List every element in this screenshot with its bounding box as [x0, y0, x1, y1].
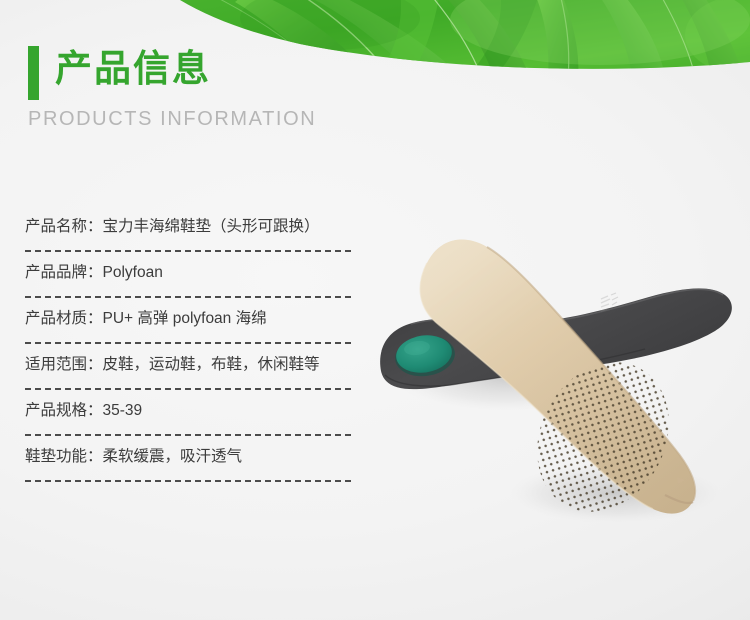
spec-divider — [25, 388, 351, 390]
spec-divider — [25, 434, 351, 436]
spec-divider — [25, 250, 351, 252]
spec-divider — [25, 480, 351, 482]
spec-row-function: 鞋垫功能：柔软缓震，吸汗透气 — [25, 442, 355, 488]
spec-text: 鞋垫功能：柔软缓震，吸汗透气 — [25, 446, 242, 468]
page-subtitle: PRODUCTS INFORMATION — [28, 108, 316, 131]
spec-text: 产品规格：35-39 — [25, 400, 142, 422]
spec-text: 适用范围：皮鞋，运动鞋，布鞋，休闲鞋等 — [25, 354, 320, 376]
insole-pair-photo — [365, 225, 750, 535]
spec-row-material: 产品材质：PU+ 高弹 polyfoan 海绵 — [25, 304, 355, 350]
product-image — [365, 225, 750, 535]
spec-text: 产品材质：PU+ 高弹 polyfoan 海绵 — [25, 308, 267, 330]
product-spec-list: 产品名称：宝力丰海绵鞋垫（头形可跟换） 产品品牌：Polyfoan 产品材质：P… — [25, 212, 355, 488]
spec-divider — [25, 342, 351, 344]
spec-row-product-name: 产品名称：宝力丰海绵鞋垫（头形可跟换） — [25, 212, 355, 258]
title-accent-bar — [28, 46, 39, 100]
spec-text: 产品名称：宝力丰海绵鞋垫（头形可跟换） — [25, 216, 320, 238]
page-title: 产品信息 — [55, 42, 211, 96]
spec-row-application: 适用范围：皮鞋，运动鞋，布鞋，休闲鞋等 — [25, 350, 355, 396]
spec-divider — [25, 296, 351, 298]
spec-row-size: 产品规格：35-39 — [25, 396, 355, 442]
product-info-page: 产品信息 PRODUCTS INFORMATION 产品名称：宝力丰海绵鞋垫（头… — [0, 0, 750, 620]
spec-text: 产品品牌：Polyfoan — [25, 262, 163, 284]
spec-row-brand: 产品品牌：Polyfoan — [25, 258, 355, 304]
